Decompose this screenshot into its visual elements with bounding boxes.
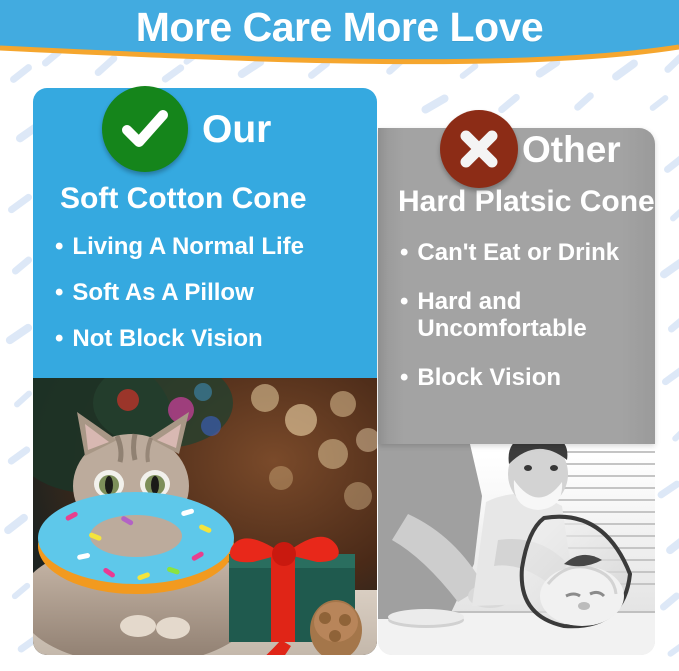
confetti-dash — [665, 532, 679, 556]
confetti-dash — [671, 423, 679, 443]
list-item-label: Soft As A Pillow — [72, 280, 253, 307]
confetti-dash — [669, 203, 679, 222]
confetti-dash — [656, 479, 679, 499]
list-item-label: Can't Eat or Drink — [417, 240, 619, 267]
confetti-dash — [4, 322, 33, 345]
heading-ours: Our — [102, 86, 271, 172]
confetti-dash — [6, 445, 31, 466]
list-item: •Not Block Vision — [55, 326, 375, 353]
photo-other — [378, 444, 655, 655]
list-item: •Soft As A Pillow — [55, 280, 375, 307]
comparison-infographic: More Care More Love Our Other Soft Cotto… — [0, 0, 679, 671]
photo-ours-illustration — [33, 378, 377, 655]
bullet-marker-icon: • — [400, 365, 408, 390]
confetti-dash — [11, 582, 32, 601]
confetti-dash — [11, 255, 34, 276]
bullet-marker-icon: • — [55, 326, 63, 351]
photo-ours — [33, 378, 377, 655]
confetti-dash — [659, 591, 679, 612]
list-item: •Hard and Uncomfortable — [400, 289, 650, 343]
list-item: •Living A Normal Life — [55, 234, 375, 261]
x-icon — [440, 110, 518, 188]
heading-other: Other — [440, 110, 621, 188]
bullet-marker-icon: • — [400, 240, 408, 265]
heading-other-label: Other — [522, 131, 621, 168]
feature-list-other: •Can't Eat or Drink•Hard and Uncomfortab… — [400, 240, 650, 414]
bullet-marker-icon: • — [55, 280, 63, 305]
confetti-dash — [661, 364, 679, 386]
check-icon — [102, 86, 188, 172]
confetti-dash — [3, 512, 30, 536]
confetti-dash — [666, 640, 679, 658]
list-item-label: Not Block Vision — [72, 326, 262, 353]
page-title: More Care More Love — [0, 4, 679, 51]
header-banner: More Care More Love — [0, 0, 679, 92]
list-item-label: Living A Normal Life — [72, 234, 304, 261]
confetti-dash — [573, 91, 596, 112]
photo-other-illustration — [378, 444, 655, 655]
bullet-marker-icon: • — [55, 234, 63, 259]
confetti-dash — [667, 313, 679, 334]
subheading-ours: Soft Cotton Cone — [60, 182, 307, 216]
confetti-dash — [7, 192, 34, 214]
confetti-dash — [663, 153, 679, 175]
list-item: •Can't Eat or Drink — [400, 240, 650, 267]
subheading-other: Hard Platsic Cone — [398, 185, 655, 219]
bullet-marker-icon: • — [400, 289, 408, 314]
list-item-label: Hard and Uncomfortable — [417, 289, 586, 343]
feature-list-ours: •Living A Normal Life•Soft As A Pillow•N… — [55, 234, 375, 372]
confetti-dash — [658, 256, 679, 280]
heading-ours-label: Our — [202, 110, 271, 149]
list-item: •Block Vision — [400, 365, 650, 392]
list-item-label: Block Vision — [417, 365, 561, 392]
confetti-dash — [13, 389, 33, 408]
confetti-dash — [648, 94, 669, 112]
